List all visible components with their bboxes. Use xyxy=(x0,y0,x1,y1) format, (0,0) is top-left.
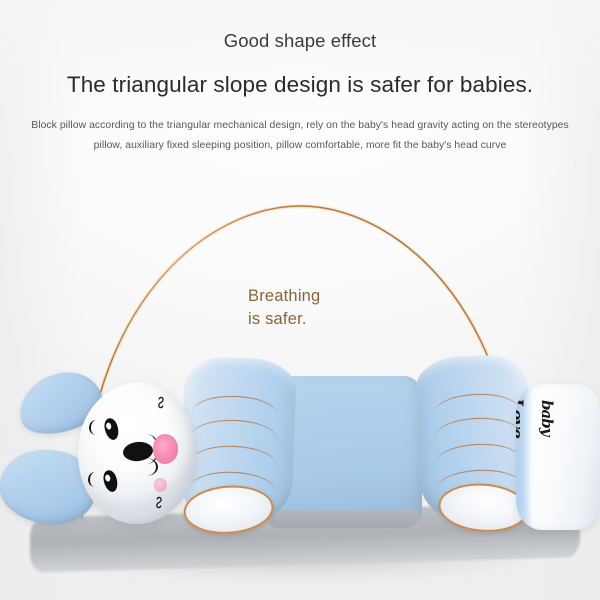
bunny-face: ∾ ∾ xyxy=(78,382,196,524)
bunny-cheek-icon xyxy=(154,478,167,492)
pillow-product: ∾ ∾ Love baby xyxy=(0,330,600,600)
callout-line-1: Breathing xyxy=(248,285,320,308)
breathing-callout: Breathing is safer. xyxy=(248,285,320,331)
brand-script-baby: baby xyxy=(538,400,556,435)
product-feature-image: Good shape effect The triangular slope d… xyxy=(0,0,600,600)
kicker-text: Good shape effect xyxy=(0,30,600,52)
bunny-eye-icon xyxy=(102,469,120,493)
right-white-pillow: Love baby xyxy=(516,384,600,530)
callout-line-2: is safer. xyxy=(248,308,320,331)
description-paragraph: Block pillow according to the triangular… xyxy=(18,116,583,156)
bunny-eye-icon xyxy=(103,417,121,441)
bunny-whisker-icon: ∾ xyxy=(150,495,168,511)
bunny-head: ∾ ∾ xyxy=(78,382,196,524)
bunny-brow-icon xyxy=(87,472,102,488)
bunny-cheek-icon xyxy=(153,434,178,464)
left-bolster xyxy=(179,356,297,528)
page-title: The triangular slope design is safer for… xyxy=(0,72,600,98)
text-block: Good shape effect The triangular slope d… xyxy=(0,0,600,156)
bunny-brow-icon xyxy=(88,420,103,436)
brand-script-love: Love xyxy=(516,398,526,438)
bunny-whisker-icon: ∾ xyxy=(152,395,170,411)
